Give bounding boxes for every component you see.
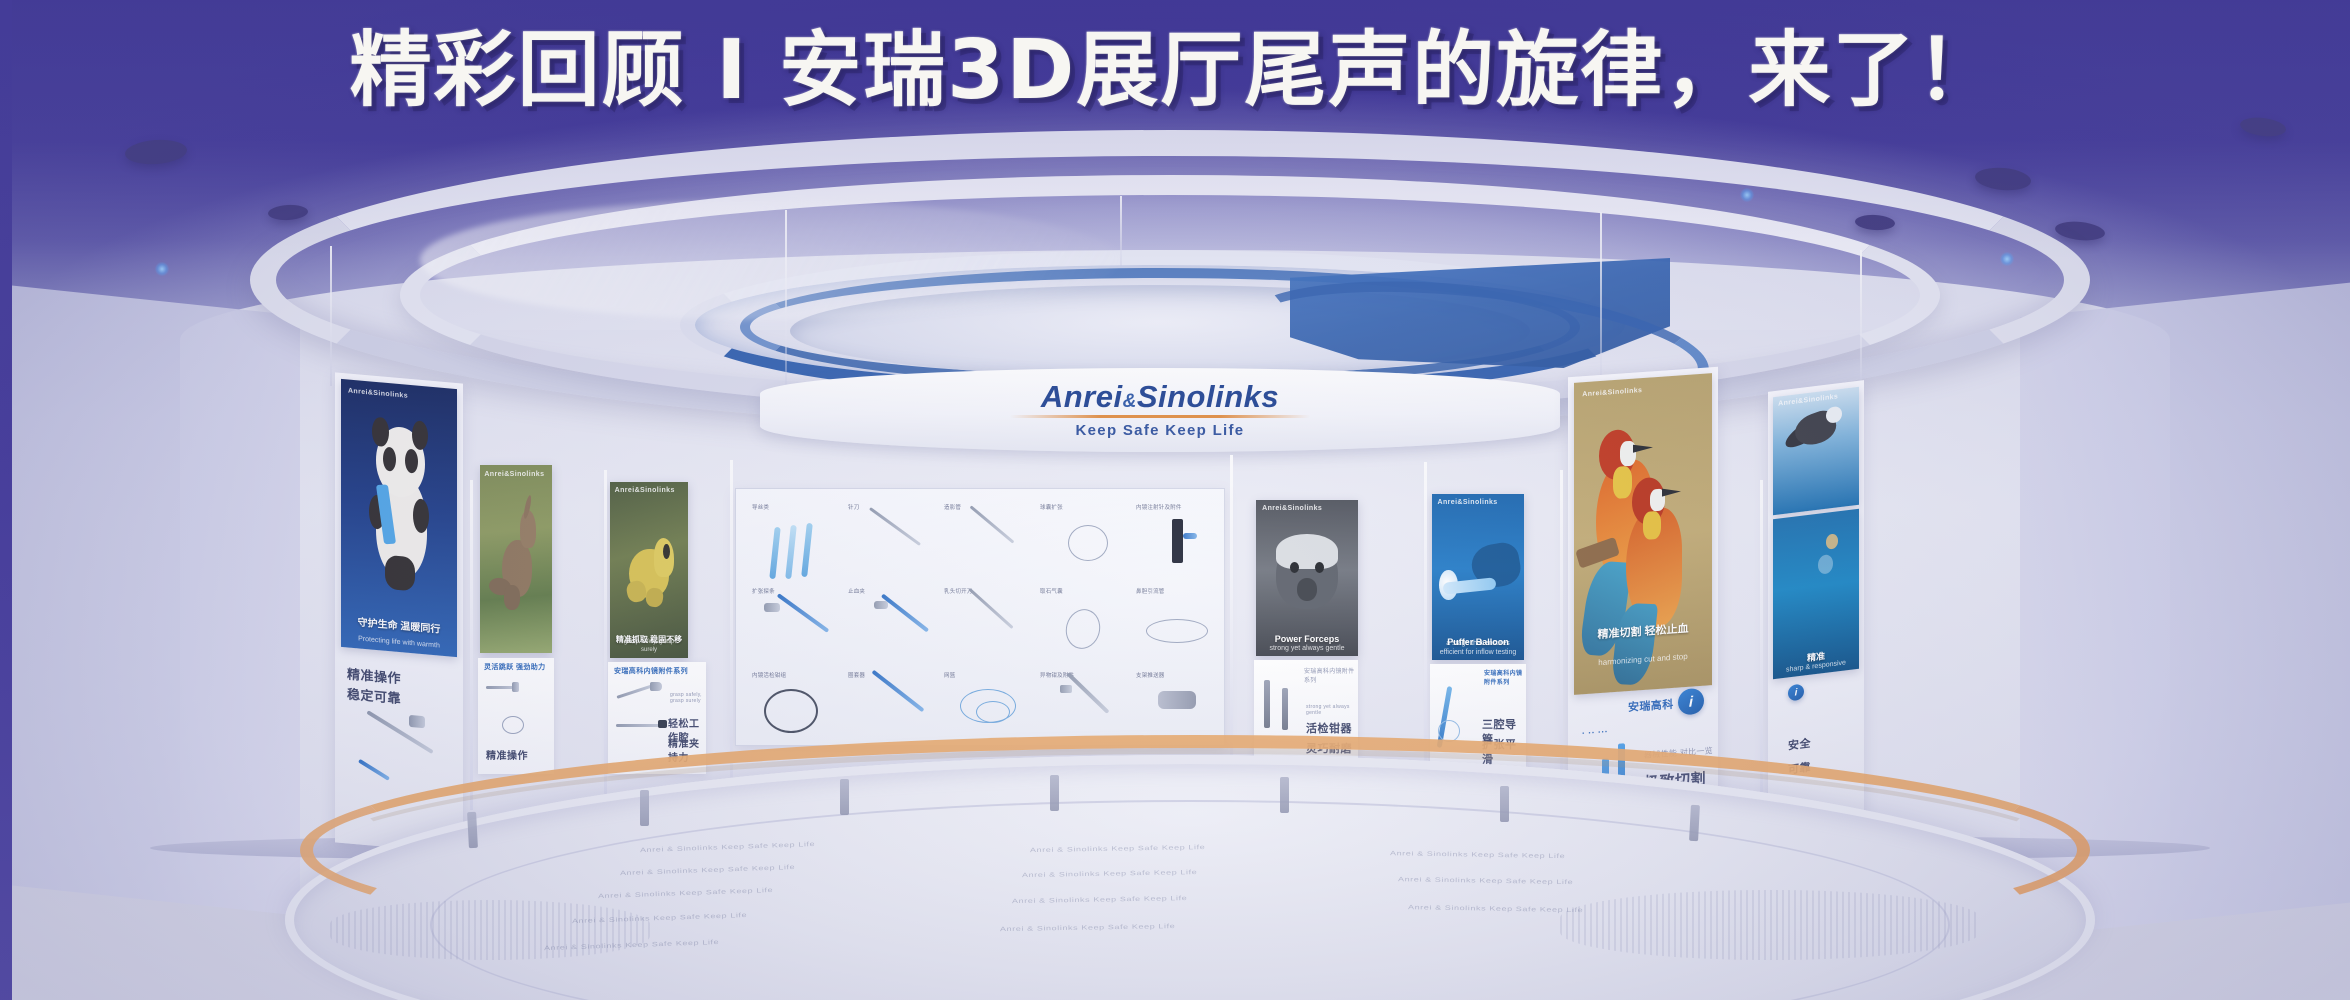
instrument-nasobiliary-drain: [1146, 619, 1208, 643]
exhibition-hall-banner: Anrei&Sinolinks 守护生命 温暖同行 Protecting lif…: [0, 0, 2350, 1000]
product-card-kangaroo: 灵活跳跃 强劲助力 精准操作: [478, 658, 554, 774]
grid-cell-label: 鼻胆引流管: [1136, 587, 1165, 595]
instrument-snare-loop: [1068, 525, 1108, 561]
grid-cell: 造影管: [942, 501, 1034, 579]
kangaroo-leg: [504, 585, 520, 609]
badger-snout: [1297, 578, 1317, 601]
poster-birds: Anrei&Sinolinks 精准切割 轻松止血 harmonizing cu…: [1574, 373, 1712, 695]
instrument-guidewire: [801, 523, 813, 577]
instrument-sphincterotome: [968, 588, 1013, 629]
ring-glow-dot: [1740, 188, 1754, 202]
brandmark-letter: i: [1689, 693, 1693, 710]
card-sub-label: strong yet always gentle: [1306, 704, 1358, 716]
instrument-snare-shaft: [872, 670, 925, 713]
railing-post: [1689, 805, 1700, 841]
grid-cell: 内镜活检钳组: [750, 669, 842, 739]
kangaroo-head: [520, 510, 536, 548]
page-title: 精彩回顾 I 安瑞3D展厅尾声的旋律，来了！: [350, 28, 2001, 114]
instrument-foreign-body-forceps: [1066, 672, 1109, 714]
grid-cell: 异物钳及附件: [1038, 669, 1130, 739]
brand-circle-mark: i: [1788, 683, 1804, 701]
card-label-top: 安瑞高科内镜附件系列: [1304, 666, 1358, 684]
ceiling-spotlight: [1974, 166, 2032, 193]
poster-brand-label: Anrei&Sinolinks: [1262, 505, 1322, 512]
grid-cell-label: 针刀: [848, 503, 859, 511]
poster-panda: Anrei&Sinolinks 守护生命 温暖同行 Protecting lif…: [341, 379, 457, 657]
ceiling-drop-rod: [330, 246, 332, 386]
poster-brand-label: Anrei&Sinolinks: [615, 487, 675, 494]
eagle-head: [1826, 405, 1841, 423]
grid-cell: 乳头切开刀: [942, 585, 1034, 663]
panda-ear-right: [412, 420, 428, 451]
instrument-injection-needle: [1172, 519, 1183, 563]
instrument-guidewire: [785, 525, 797, 579]
railing-post: [1500, 786, 1509, 822]
panel-label-2: 稳定可靠: [347, 685, 401, 707]
railing-post: [1280, 777, 1289, 813]
grid-cell-label: 球囊扩张: [1040, 503, 1063, 511]
device-forceps-2: [1282, 688, 1288, 730]
grid-cell: 网篮: [942, 669, 1034, 739]
ring-glow-dot: [155, 262, 169, 276]
bird-throat-upper: [1613, 466, 1632, 499]
grid-cell: 止血夹: [846, 585, 938, 663]
ceiling-drop-rod: [785, 210, 787, 390]
instrument-dilator-head: [764, 603, 780, 612]
poster-ocean: 精准 sharp & responsive: [1773, 509, 1859, 680]
grid-cell-label: 扩张探条: [752, 587, 775, 595]
grid-cell-label: 造影管: [944, 503, 961, 511]
bird-beak-lower: [1662, 488, 1681, 497]
poster-eagle: Anrei&Sinolinks: [1773, 387, 1859, 516]
instrument-hemoclip-shaft: [881, 594, 929, 633]
card-sub-label: grasp safely, grasp surely: [670, 692, 706, 704]
instrument-needle-knife: [869, 507, 921, 546]
bird-beak-upper: [1633, 443, 1653, 452]
grid-cell-label: 网篮: [944, 671, 955, 679]
device-forceps-jaw: [650, 682, 662, 691]
railing-post: [640, 790, 649, 826]
panel-label-1: 安全: [1788, 737, 1811, 755]
panda-ear-left: [372, 416, 388, 447]
instrument-retrieval-balloon: [1062, 605, 1105, 652]
stage-railing: [300, 735, 2090, 965]
device-forceps-tip: [658, 720, 667, 728]
grid-cell: 支架推送器: [1134, 669, 1218, 739]
card-label-blue: 安瑞高科内镜附件系列: [1484, 668, 1526, 686]
grid-cell-label: 乳头切开刀: [944, 587, 973, 595]
ceiling-spotlight: [124, 138, 188, 166]
panel-support-post: [470, 480, 473, 810]
ceiling-spotlight: [2239, 115, 2287, 138]
grid-cell: 扩张探条: [750, 585, 842, 663]
grid-cell: 球囊扩张: [1038, 501, 1130, 579]
grid-cell-label: 内镜活检钳组: [752, 671, 786, 679]
card-label-blue: 安瑞高科内镜附件系列: [614, 666, 688, 676]
brand-underline: [1010, 415, 1310, 418]
left-edge-strip: [0, 0, 12, 1000]
railing-post: [467, 812, 478, 848]
brand-circle-mark: i: [1678, 688, 1704, 716]
device-forceps-closed: [616, 724, 660, 727]
brand-tagline: Keep Safe Keep Life: [1076, 422, 1245, 439]
ocean-sun: [1826, 534, 1838, 550]
instrument-needle-hub: [1183, 533, 1197, 539]
railing-post: [840, 779, 849, 815]
grid-cell-label: 止血夹: [848, 587, 865, 595]
badger-eye-left: [1290, 562, 1299, 573]
instrument-biopsy-forceps-arc: [764, 689, 818, 733]
ceiling-spotlight: [2054, 219, 2106, 242]
device-tip: [512, 682, 519, 692]
ocean-bubble: [1818, 553, 1833, 574]
poster-brand-label: Anrei&Sinolinks: [1778, 393, 1838, 407]
product-grid-board: 导丝类 针刀 造影管 球囊扩张 内镜注射针及附件 扩张探条: [735, 488, 1225, 746]
ring-glow-dot: [2000, 252, 2014, 266]
brand-ampersand: &: [1123, 391, 1137, 412]
poster-subtitle: grasp safely, grasp surely: [610, 639, 688, 655]
ceiling-drop-rod: [1860, 250, 1862, 400]
poster-frog: Anrei&Sinolinks 精准抓取 稳固不移 grasp safely, …: [610, 482, 688, 658]
device-snare-loop: [502, 716, 524, 734]
instrument-guidewire: [769, 527, 780, 579]
panda-eye-right: [405, 449, 418, 474]
grid-cell: 导丝类: [750, 501, 842, 579]
poster-subtitle: a stage that ensures efficient for inflo…: [1432, 639, 1524, 657]
instrument-basket-loop: [976, 701, 1010, 723]
panel-panda: Anrei&Sinolinks 守护生命 温暖同行 Protecting lif…: [335, 372, 463, 853]
grid-cell-label: 圈套器: [848, 671, 865, 679]
grid-cell: 内镜注射针及附件: [1134, 501, 1218, 579]
card-caption: 精准操作: [486, 750, 528, 764]
device-forceps-open: [616, 684, 653, 699]
ceiling-spotlight: [1855, 214, 1896, 231]
instrument-cannula: [970, 505, 1015, 543]
frog-leg-back: [645, 586, 665, 608]
device-needle-tip: [358, 759, 390, 781]
grid-cell: 针刀: [846, 501, 938, 579]
ceiling-drop-rod: [1600, 212, 1602, 392]
grid-cell: 圈套器: [846, 669, 938, 739]
poster-brand-label: Anrei&Sinolinks: [1582, 387, 1642, 398]
instrument-forceps-head: [1060, 685, 1072, 693]
brand-name-left: Anrei: [1041, 379, 1123, 414]
poster-balloon: Anrei&Sinolinks Puffer Balloon a stage t…: [1432, 494, 1524, 660]
left-wall: [0, 284, 300, 916]
instrument-dilator-shaft: [777, 593, 830, 633]
device-forceps-1: [1264, 680, 1270, 728]
brandmark-letter: i: [1795, 687, 1798, 698]
bird-throat-lower: [1643, 511, 1661, 540]
device-handle: [409, 715, 425, 728]
badger-cap: [1276, 534, 1337, 568]
panda-eye-left: [383, 447, 396, 472]
poster-brand-label: Anrei&Sinolinks: [484, 471, 544, 478]
ceiling-ring-highlight: [420, 200, 1120, 320]
poster-kangaroo: Anrei&Sinolinks: [480, 465, 552, 653]
chart-legend: · ·· ···: [1582, 726, 1608, 738]
grid-cell-label: 取石气囊: [1040, 587, 1063, 595]
card-caption-1: 活检钳器: [1306, 722, 1352, 737]
grid-cell-label: 导丝类: [752, 503, 769, 511]
poster-subtitle: strong yet always gentle: [1256, 644, 1358, 653]
grid-cell-label: 支架推送器: [1136, 671, 1165, 679]
brandmark-label: 安瑞高科: [1628, 696, 1674, 715]
brand-logo-band: Anrei&Sinolinks Keep Safe Keep Life: [760, 368, 1560, 452]
poster-brand-label: Anrei&Sinolinks: [1438, 499, 1498, 506]
poster-badger: Anrei&Sinolinks Power Forceps strong yet…: [1256, 500, 1358, 656]
ceiling-spotlight: [268, 204, 309, 221]
railing-post: [1050, 775, 1059, 811]
brand-logotype: Anrei&Sinolinks: [1041, 381, 1279, 412]
panel-label-1: 精准操作: [347, 665, 401, 687]
grid-cell: 鼻胆引流管: [1134, 585, 1218, 663]
panda-legs: [385, 554, 415, 591]
grid-cell: 取石气囊: [1038, 585, 1130, 663]
ceiling-drop-rod: [1120, 196, 1122, 266]
instrument-stent-pusher: [1158, 691, 1196, 709]
banner-title-area: 精彩回顾 I 安瑞3D展厅尾声的旋律，来了！: [0, 28, 2350, 114]
grid-cell-label: 内镜注射针及附件: [1136, 503, 1182, 511]
instrument-hemoclip-jaw: [874, 601, 888, 609]
card-label-blue: 灵活跳跃 强劲助力: [484, 662, 546, 672]
poster-brand-label: Anrei&Sinolinks: [348, 388, 408, 400]
brand-name-right: Sinolinks: [1137, 379, 1279, 414]
